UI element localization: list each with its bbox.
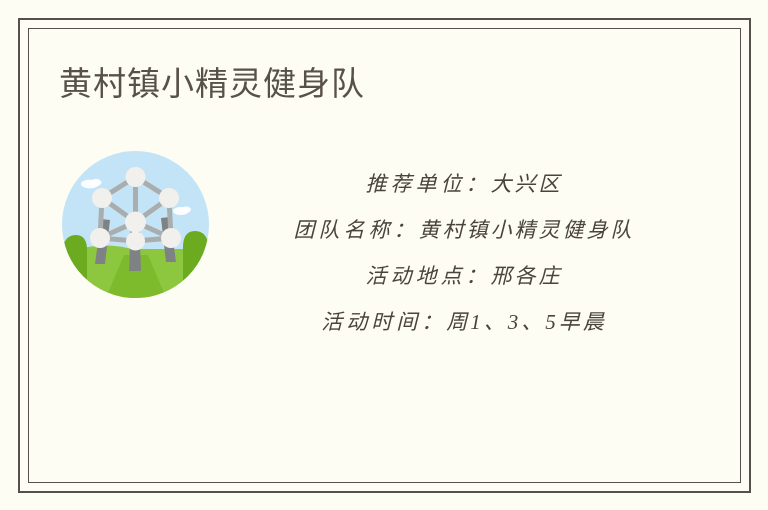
info-label-activity-location: 活动地点： — [366, 264, 491, 288]
atomium-illustration — [62, 151, 209, 298]
page-title: 黄村镇小精灵健身队 — [59, 62, 365, 106]
info-value-activity-location: 邢各庄 — [491, 264, 563, 288]
info-label-activity-time: 活动时间： — [321, 310, 446, 334]
info-label-team-name: 团队名称： — [294, 218, 419, 242]
card-body: 黄村镇小精灵健身队 — [29, 29, 740, 482]
info-block: 推荐单位：大兴区 团队名称：黄村镇小精灵健身队 活动地点：邢各庄 活动时间：周1… — [209, 161, 719, 345]
info-line-activity-time: 活动时间：周1、3、5早晨 — [209, 299, 719, 345]
info-line-activity-location: 活动地点：邢各庄 — [209, 253, 719, 299]
info-value-activity-time: 周1、3、5早晨 — [446, 310, 607, 334]
info-label-recommending-unit: 推荐单位： — [366, 172, 491, 196]
info-value-team-name: 黄村镇小精灵健身队 — [419, 218, 635, 242]
page-root: 黄村镇小精灵健身队 — [0, 0, 768, 510]
info-value-recommending-unit: 大兴区 — [491, 172, 563, 196]
info-line-recommending-unit: 推荐单位：大兴区 — [209, 161, 719, 207]
info-line-team-name: 团队名称：黄村镇小精灵健身队 — [209, 207, 719, 253]
